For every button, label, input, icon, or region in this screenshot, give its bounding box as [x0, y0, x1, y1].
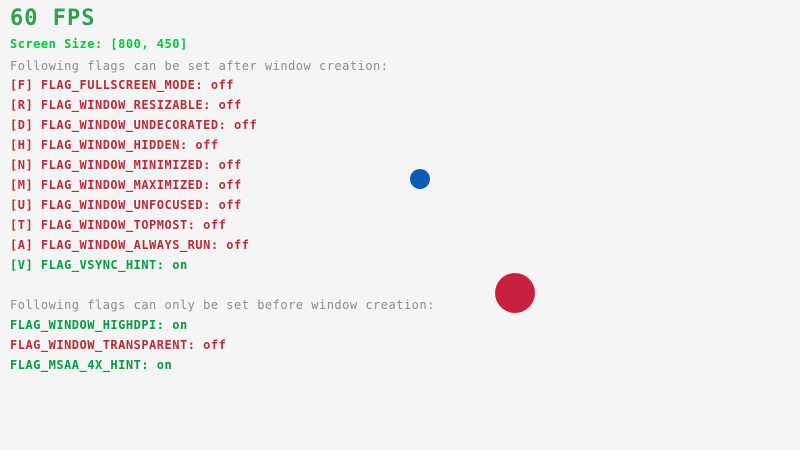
flag-row-vsync-hint[interactable]: [V] FLAG_VSYNC_HINT: on: [10, 259, 188, 271]
flag-row-msaa-4x-hint: FLAG_MSAA_4X_HINT: on: [10, 359, 172, 371]
screen-size-label: Screen Size: [800, 450]: [10, 38, 188, 50]
flag-row-window-minimized[interactable]: [N] FLAG_WINDOW_MINIMIZED: off: [10, 159, 242, 171]
flag-row-window-always-run[interactable]: [A] FLAG_WINDOW_ALWAYS_RUN: off: [10, 239, 249, 251]
flag-row-window-resizable[interactable]: [R] FLAG_WINDOW_RESIZABLE: off: [10, 99, 242, 111]
flag-row-window-undecorated[interactable]: [D] FLAG_WINDOW_UNDECORATED: off: [10, 119, 257, 131]
flag-row-window-transparent: FLAG_WINDOW_TRANSPARENT: off: [10, 339, 226, 351]
flag-row-window-unfocused[interactable]: [U] FLAG_WINDOW_UNFOCUSED: off: [10, 199, 242, 211]
small-blue-circle: [410, 169, 430, 189]
raylib-window-canvas: 60 FPS Screen Size: [800, 450] Following…: [0, 0, 800, 450]
flag-row-window-topmost[interactable]: [T] FLAG_WINDOW_TOPMOST: off: [10, 219, 226, 231]
flag-row-window-maximized[interactable]: [M] FLAG_WINDOW_MAXIMIZED: off: [10, 179, 242, 191]
fps-counter: 60 FPS: [10, 8, 95, 30]
flag-row-window-hidden[interactable]: [H] FLAG_WINDOW_HIDDEN: off: [10, 139, 219, 151]
flag-row-window-highdpi: FLAG_WINDOW_HIGHDPI: on: [10, 319, 188, 331]
flag-row-fullscreen-mode[interactable]: [F] FLAG_FULLSCREEN_MODE: off: [10, 79, 234, 91]
large-red-circle: [495, 273, 535, 313]
runtime-flags-heading: Following flags can be set after window …: [10, 60, 389, 72]
creation-flags-heading: Following flags can only be set before w…: [10, 299, 435, 311]
